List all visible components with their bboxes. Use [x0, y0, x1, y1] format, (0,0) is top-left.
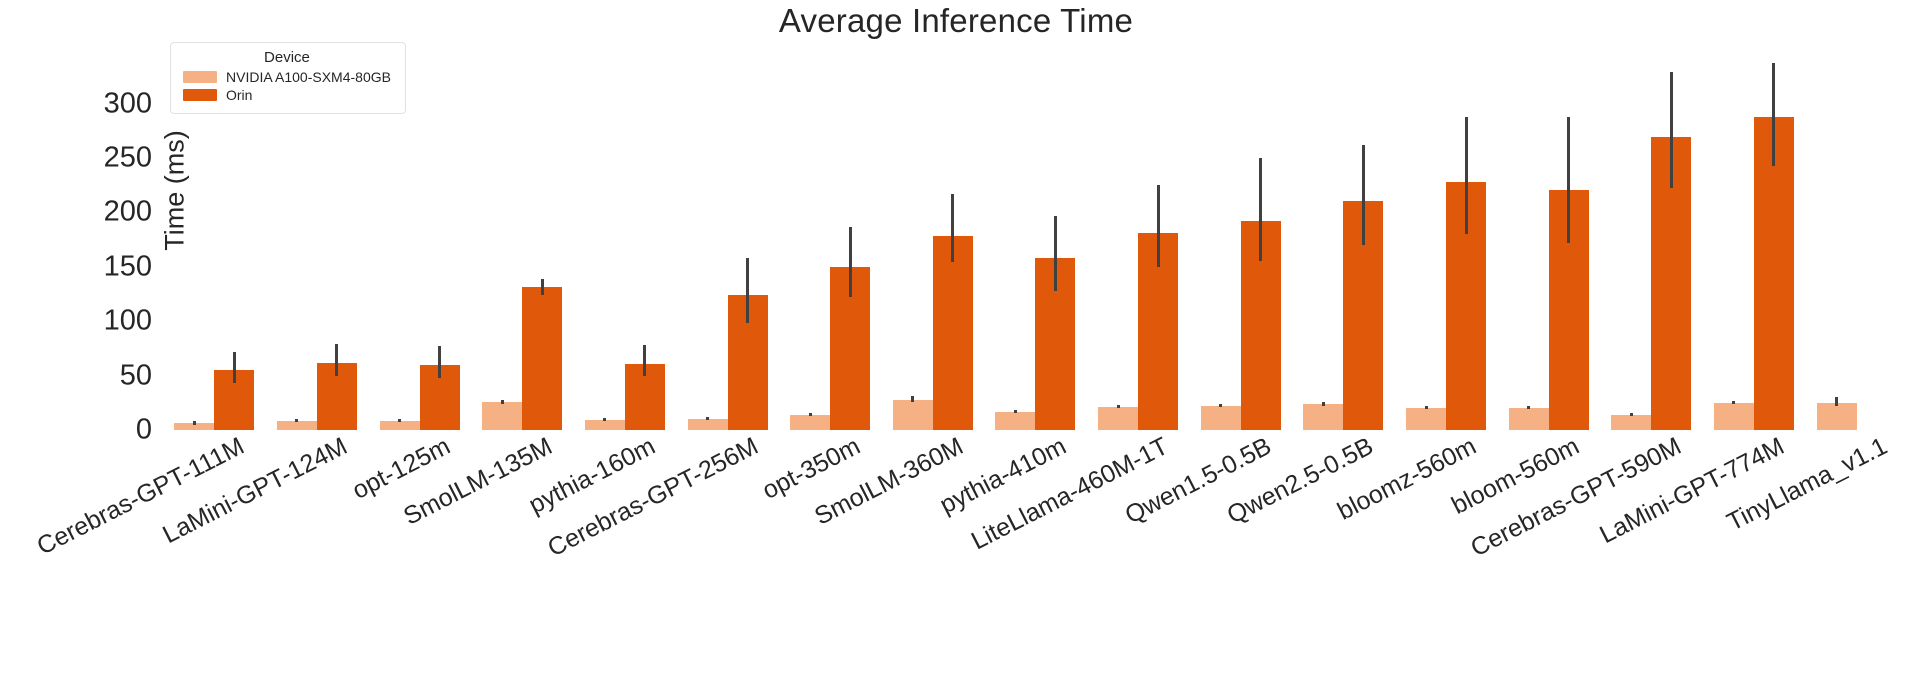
error-bar — [706, 417, 709, 420]
bar-group — [1087, 60, 1190, 430]
error-bar — [295, 419, 298, 422]
bar-group — [1600, 60, 1703, 430]
legend-swatch-icon — [183, 89, 217, 101]
y-tick-label: 0 — [32, 414, 152, 447]
y-tick-label: 50 — [32, 359, 152, 392]
error-bar — [1322, 402, 1325, 406]
bar-slot — [933, 60, 973, 430]
error-bar — [1259, 158, 1262, 261]
bar-slot — [1611, 60, 1651, 430]
bar[interactable] — [1098, 407, 1138, 430]
error-bar — [1670, 72, 1673, 188]
bar-slot — [1406, 60, 1446, 430]
bar[interactable] — [522, 287, 562, 430]
error-bar — [1219, 404, 1222, 407]
bar-slot — [1303, 60, 1343, 430]
error-bar — [541, 279, 544, 295]
bar[interactable] — [688, 419, 728, 430]
bar[interactable] — [1201, 406, 1241, 430]
bar-slot — [380, 60, 420, 430]
bar-group — [881, 60, 984, 430]
legend-swatch-icon — [183, 71, 217, 83]
y-tick-label: 200 — [32, 196, 152, 229]
bar-slot — [1241, 60, 1281, 430]
bar[interactable] — [790, 415, 830, 430]
bar[interactable] — [1509, 408, 1549, 430]
bar-group — [984, 60, 1087, 430]
bar-group — [1703, 60, 1806, 430]
bar-group — [163, 60, 266, 430]
error-bar — [1630, 413, 1633, 416]
bar-slot — [522, 60, 562, 430]
error-bar — [1772, 63, 1775, 165]
bar-slot — [688, 60, 728, 430]
bar-group — [1497, 60, 1600, 430]
bar[interactable] — [482, 402, 522, 430]
bar-slot — [1343, 60, 1383, 430]
y-tick-label: 250 — [32, 141, 152, 174]
y-tick-label: 150 — [32, 250, 152, 283]
bar[interactable] — [380, 421, 420, 430]
bar-slot — [1446, 60, 1486, 430]
error-bar — [951, 194, 954, 263]
error-bar — [1117, 405, 1120, 408]
error-bar — [398, 419, 401, 422]
error-bar — [1362, 145, 1365, 245]
bar[interactable] — [277, 421, 317, 430]
bar-slot — [1857, 60, 1897, 430]
bar-slot — [1817, 60, 1857, 430]
plot-area: Time (ms) 050100150200250300 — [163, 60, 1908, 430]
bar-slot — [482, 60, 522, 430]
bar-slot — [1098, 60, 1138, 430]
error-bar — [603, 418, 606, 421]
chart-figure: Average Inference Time Time (ms) 0501001… — [0, 0, 1912, 687]
error-bar — [746, 258, 749, 323]
error-bar — [438, 346, 441, 378]
bar-slot — [1549, 60, 1589, 430]
bar-slot — [1509, 60, 1549, 430]
x-tick-label: LaMini-GPT-124M — [158, 432, 352, 550]
error-bar — [1835, 397, 1838, 406]
error-bar — [233, 352, 236, 384]
bar-slot — [1138, 60, 1178, 430]
bar-group — [1292, 60, 1395, 430]
bar-slot — [1201, 60, 1241, 430]
bar-slot — [1651, 60, 1691, 430]
legend-title: Device — [183, 49, 391, 66]
legend-entries: NVIDIA A100-SXM4-80GBOrin — [183, 69, 391, 103]
error-bar — [1465, 117, 1468, 235]
bar-slot — [174, 60, 214, 430]
x-axis-ticks: Cerebras-GPT-111MLaMini-GPT-124Mopt-125m… — [163, 432, 1908, 672]
legend-label: NVIDIA A100-SXM4-80GB — [226, 69, 391, 85]
bar-slot — [1714, 60, 1754, 430]
bar[interactable] — [585, 420, 625, 430]
error-bar — [1732, 401, 1735, 405]
bar-slot — [995, 60, 1035, 430]
bar-groups — [163, 60, 1908, 430]
bar[interactable] — [1303, 404, 1343, 430]
bar[interactable] — [933, 236, 973, 430]
bar[interactable] — [1714, 403, 1754, 430]
error-bar — [809, 413, 812, 416]
chart-title: Average Inference Time — [0, 2, 1912, 40]
error-bar — [501, 400, 504, 404]
legend-item[interactable]: Orin — [183, 87, 391, 103]
bar-group — [1189, 60, 1292, 430]
bar-slot — [317, 60, 357, 430]
bar-group — [368, 60, 471, 430]
bar-slot — [625, 60, 665, 430]
error-bar — [1527, 406, 1530, 409]
bar-group — [779, 60, 882, 430]
x-tick-label: LaMini-GPT-774M — [1595, 432, 1789, 550]
bar-slot — [214, 60, 254, 430]
bar-slot — [420, 60, 460, 430]
bar-group — [471, 60, 574, 430]
bar[interactable] — [1817, 403, 1857, 430]
bar-slot — [1754, 60, 1794, 430]
legend-label: Orin — [226, 87, 252, 103]
bar-slot — [830, 60, 870, 430]
bar-group — [1805, 60, 1908, 430]
error-bar — [1157, 185, 1160, 267]
legend-item[interactable]: NVIDIA A100-SXM4-80GB — [183, 69, 391, 85]
bar-slot — [728, 60, 768, 430]
bar-slot — [277, 60, 317, 430]
bar-slot — [1035, 60, 1075, 430]
bar-group — [1395, 60, 1498, 430]
bar[interactable] — [995, 412, 1035, 430]
error-bar — [1014, 410, 1017, 413]
bar-group — [266, 60, 369, 430]
error-bar — [335, 344, 338, 376]
bar-slot — [790, 60, 830, 430]
y-tick-label: 100 — [32, 305, 152, 338]
legend: Device NVIDIA A100-SXM4-80GBOrin — [170, 42, 406, 114]
error-bar — [849, 227, 852, 298]
bar[interactable] — [1611, 415, 1651, 430]
bar-slot — [893, 60, 933, 430]
error-bar — [193, 421, 196, 424]
bar[interactable] — [893, 400, 933, 430]
error-bar — [643, 345, 646, 375]
error-bar — [1567, 117, 1570, 243]
y-tick-label: 300 — [32, 87, 152, 120]
bar-slot — [585, 60, 625, 430]
bar[interactable] — [1406, 408, 1446, 430]
bar-group — [574, 60, 677, 430]
bar-group — [676, 60, 779, 430]
error-bar — [1425, 406, 1428, 409]
error-bar — [1054, 216, 1057, 291]
error-bar — [911, 396, 914, 401]
